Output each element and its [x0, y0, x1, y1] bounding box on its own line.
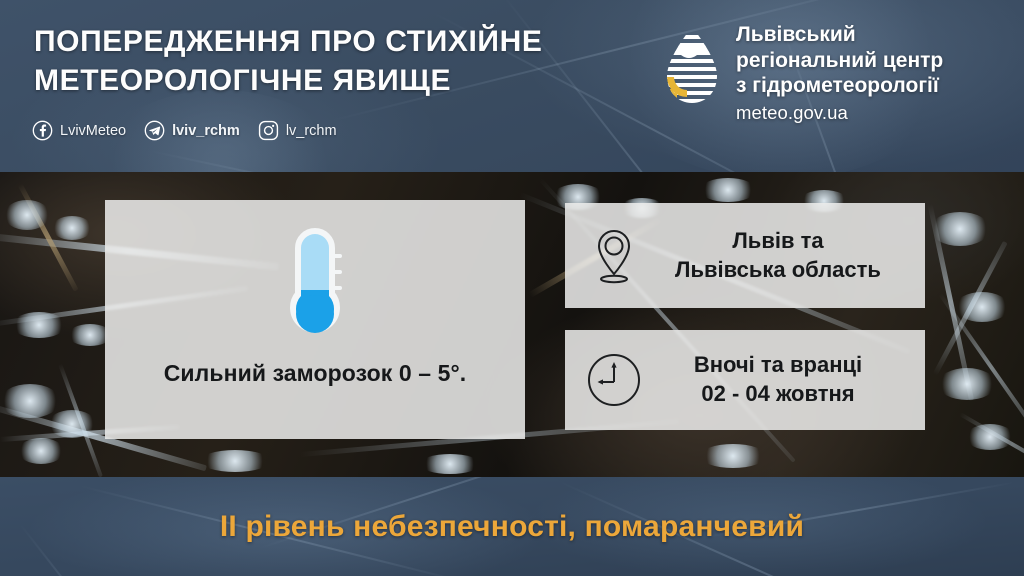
ice-crystal — [18, 438, 64, 464]
location-icon-wrapper — [583, 228, 645, 284]
thermometer-icon — [279, 228, 351, 346]
danger-level-text: ІІ рівень небезпечності, помаранчевий — [220, 510, 804, 544]
page-title-line-1: ПОПЕРЕДЖЕННЯ ПРО СТИХІЙНЕ — [34, 25, 542, 58]
location-line-1: Львів та — [645, 227, 911, 256]
social-handle-instagram: lv_rchm — [286, 123, 337, 139]
clock-icon — [586, 352, 642, 408]
condition-card: Сильний заморозок 0 – 5°. — [105, 200, 525, 439]
social-link-instagram[interactable]: lv_rchm — [258, 120, 337, 141]
time-line-1: Вночі та вранці — [645, 351, 911, 380]
ice-crystal — [700, 178, 756, 202]
location-line-2: Львівська область — [645, 256, 911, 285]
logo-line-2: регіональний центр — [736, 48, 943, 74]
social-link-facebook[interactable]: LvivMeteo — [32, 120, 126, 141]
ice-crystal — [420, 454, 480, 474]
ice-crystal — [966, 424, 1014, 450]
social-handle-telegram: lviv_rchm — [172, 123, 240, 139]
social-handle-facebook: LvivMeteo — [60, 123, 126, 139]
logo-line-1: Львівський — [736, 22, 943, 48]
ice-crystal — [0, 384, 60, 418]
organization-name: Львівський регіональний центр з гідромет… — [736, 22, 943, 124]
ice-crystal — [938, 368, 996, 400]
time-line-2: 02 - 04 жовтня — [645, 380, 911, 409]
instagram-icon — [258, 120, 279, 141]
location-pin-icon — [593, 228, 635, 284]
ice-crystal — [930, 212, 990, 246]
time-card: Вночі та вранці 02 - 04 жовтня — [565, 330, 925, 430]
page-title: ПОПЕРЕДЖЕННЯ ПРО СТИХІЙНЕ МЕТЕОРОЛОГІЧНЕ… — [34, 22, 654, 100]
ice-crystal — [955, 292, 1009, 322]
clock-icon-wrapper — [583, 352, 645, 408]
ice-crystal — [4, 200, 50, 230]
ice-crystal — [12, 312, 66, 338]
header-band: ПОПЕРЕДЖЕННЯ ПРО СТИХІЙНЕ МЕТЕОРОЛОГІЧНЕ… — [0, 0, 1024, 172]
location-card: Львів та Львівська область — [565, 203, 925, 308]
social-link-telegram[interactable]: lviv_rchm — [144, 120, 240, 141]
water-droplet-logo-icon — [661, 25, 723, 107]
social-links: LvivMeteo lviv_rchm lv_rchm — [32, 120, 337, 141]
danger-level-band: ІІ рівень небезпечності, помаранчевий — [0, 477, 1024, 576]
infographic-poster: ПОПЕРЕДЖЕННЯ ПРО СТИХІЙНЕ МЕТЕОРОЛОГІЧНЕ… — [0, 0, 1024, 576]
footer-texture-streak — [19, 523, 205, 576]
ice-crystal — [48, 410, 96, 438]
ice-crystal — [200, 450, 270, 472]
logo-line-3: з гідрометеорології — [736, 73, 943, 99]
ice-crystal — [700, 444, 766, 468]
organization-logo: Львівський регіональний центр з гідромет… — [661, 22, 943, 124]
time-text: Вночі та вранці 02 - 04 жовтня — [645, 351, 911, 408]
page-title-line-2: МЕТЕОРОЛОГІЧНЕ ЯВИЩЕ — [34, 61, 654, 100]
condition-text: Сильний заморозок 0 – 5°. — [105, 360, 525, 387]
logo-website[interactable]: meteo.gov.ua — [736, 102, 943, 124]
telegram-icon — [144, 120, 165, 141]
location-text: Львів та Львівська область — [645, 227, 911, 284]
frost-photo-background: Сильний заморозок 0 – 5°. Львів та Львів… — [0, 172, 1024, 477]
ice-crystal — [52, 216, 92, 240]
facebook-icon — [32, 120, 53, 141]
